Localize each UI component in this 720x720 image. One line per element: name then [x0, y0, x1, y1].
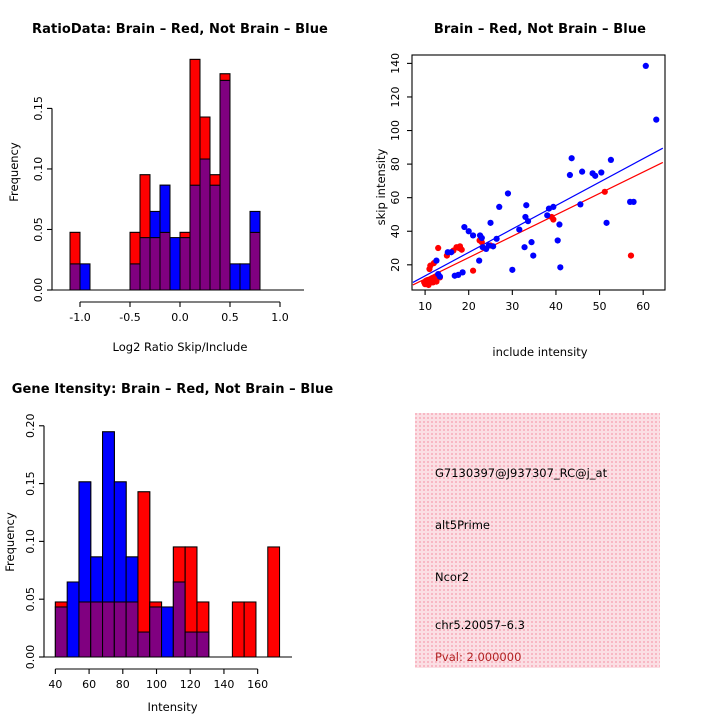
y-axis-tick-label: 0.00	[24, 645, 37, 670]
scatter-point-not-brain	[460, 269, 466, 275]
histogram-bar-overlap	[210, 185, 220, 290]
x-axis-tick-label: 50	[593, 300, 607, 313]
y-axis-tick-label: 60	[389, 191, 402, 205]
x-axis-tick-label: 120	[180, 678, 201, 691]
x-axis-tick-label: 100	[146, 678, 167, 691]
histogram-bar-overlap	[180, 238, 190, 290]
histogram-bar-not-brain	[67, 582, 79, 657]
y-axis-tick-label: 0.05	[24, 587, 37, 612]
scatter-plot: 20406080100120140102030405060	[360, 0, 720, 360]
y-axis-tick-label: 0.15	[24, 471, 37, 496]
regression-line	[413, 148, 663, 282]
scatter-point-not-brain	[487, 220, 493, 226]
x-axis-tick-label: 140	[213, 678, 234, 691]
histogram-bar-overlap	[200, 159, 210, 290]
y-axis-tick-label: 140	[389, 53, 402, 74]
scatter-point-not-brain	[525, 218, 531, 224]
scatter-point-not-brain	[521, 244, 527, 250]
panel-scatter: Brain – Red, Not Brain – Blue 2040608010…	[360, 0, 720, 360]
scatter-point-not-brain	[544, 212, 550, 218]
scatter-point-not-brain	[516, 226, 522, 232]
gene-histogram-plot: 0.000.050.100.150.20406080100120140160	[0, 360, 360, 720]
scatter-point-not-brain	[630, 199, 636, 205]
scatter-point-not-brain	[557, 264, 563, 270]
scatter-point-brain	[435, 245, 441, 251]
histogram-bar-overlap	[140, 238, 150, 290]
histogram-bar-top	[55, 602, 67, 607]
histogram-bar-overlap	[79, 602, 91, 657]
y-axis-tick-label: 0.10	[32, 157, 45, 182]
scatter-point-not-brain	[490, 243, 496, 249]
histogram-bar-overlap	[160, 232, 170, 290]
histogram-bar-top	[79, 482, 91, 602]
scatter-point-brain	[470, 268, 476, 274]
histogram-bar-top	[210, 175, 220, 185]
scatter-point-not-brain	[496, 204, 502, 210]
scatter-point-not-brain	[523, 202, 529, 208]
ratio-histogram-xlabel: Log2 Ratio Skip/Include	[0, 340, 360, 354]
scatter-point-not-brain	[494, 236, 500, 242]
histogram-bar-top	[126, 557, 138, 602]
scatter-point-not-brain	[577, 201, 583, 207]
histogram-bar-not-brain	[170, 238, 180, 290]
scatter-point-not-brain	[505, 190, 511, 196]
histogram-bar-top	[190, 59, 200, 185]
histogram-bar-overlap	[91, 602, 103, 657]
scatter-point-not-brain	[592, 173, 598, 179]
histogram-bar-overlap	[126, 602, 138, 657]
histogram-bar-top	[150, 602, 162, 607]
x-axis-tick-label: 60	[82, 678, 96, 691]
histogram-bar-overlap	[220, 80, 230, 290]
histogram-bar-not-brain	[240, 264, 250, 290]
y-axis-tick-label: 40	[389, 224, 402, 238]
x-axis-tick-label: 160	[247, 678, 268, 691]
histogram-bar-not-brain	[230, 264, 240, 290]
x-axis-tick-label: 0.0	[171, 311, 189, 324]
scatter-point-not-brain	[437, 273, 443, 279]
gene-symbol-text: Ncor2	[435, 570, 469, 584]
histogram-bar-top	[250, 211, 260, 232]
x-axis-tick-label: 60	[636, 300, 650, 313]
histogram-bar-top	[200, 117, 210, 159]
x-axis-tick-label: -0.5	[119, 311, 140, 324]
figure-canvas: RatioData: Brain – Red, Not Brain – Blue…	[0, 0, 720, 720]
histogram-bar-overlap	[70, 264, 80, 290]
scatter-point-not-brain	[479, 235, 485, 241]
scatter-point-not-brain	[653, 117, 659, 123]
histogram-bar-top	[197, 602, 209, 632]
histogram-bar-top	[70, 232, 80, 263]
histogram-bar-top	[160, 185, 170, 232]
histogram-bar-overlap	[103, 602, 115, 657]
histogram-bar-brain	[268, 547, 280, 657]
histogram-bar-brain	[232, 602, 244, 657]
scatter-point-not-brain	[569, 155, 575, 161]
x-axis-tick-label: 0.5	[221, 311, 239, 324]
scatter-ylabel: skip intensity	[374, 142, 388, 232]
histogram-bar-overlap	[250, 232, 260, 290]
locus-text: chr5.20057–6.3	[435, 618, 525, 632]
scatter-point-not-brain	[598, 169, 604, 175]
scatter-point-brain	[602, 189, 608, 195]
scatter-point-not-brain	[643, 63, 649, 69]
y-axis-tick-label: 120	[389, 86, 402, 107]
scatter-point-not-brain	[550, 204, 556, 210]
x-axis-tick-label: 80	[116, 678, 130, 691]
regression-line	[413, 162, 663, 285]
ratio-histogram-ylabel: Frequency	[7, 132, 21, 212]
histogram-bar-top	[173, 547, 185, 582]
histogram-bar-top	[220, 74, 230, 81]
histogram-bar-brain	[244, 602, 256, 657]
y-axis-tick-label: 0.05	[32, 217, 45, 242]
x-axis-tick-label: 40	[48, 678, 62, 691]
x-axis-tick-label: 40	[549, 300, 563, 313]
histogram-bar-top	[150, 211, 160, 237]
x-axis-tick-label: 30	[505, 300, 519, 313]
gene-info-box: G7130397@J937307_RC@j_at alt5Prime Ncor2…	[415, 413, 660, 668]
histogram-bar-overlap	[130, 264, 140, 290]
scatter-point-brain	[628, 252, 634, 258]
y-axis-tick-label: 100	[389, 120, 402, 141]
scatter-point-not-brain	[556, 221, 562, 227]
histogram-bar-overlap	[150, 238, 160, 290]
histogram-bar-top	[91, 557, 103, 602]
histogram-bar-top	[138, 492, 150, 632]
gene-histogram-ylabel: Frequency	[3, 502, 17, 582]
scatter-xlabel: include intensity	[360, 345, 720, 359]
histogram-bar-top	[130, 232, 140, 263]
panel-ratio-histogram: RatioData: Brain – Red, Not Brain – Blue…	[0, 0, 360, 360]
histogram-bar-overlap	[197, 632, 209, 657]
scatter-point-not-brain	[470, 232, 476, 238]
panel-gene-info: G7130397@J937307_RC@j_at alt5Prime Ncor2…	[360, 360, 720, 720]
scatter-point-not-brain	[528, 239, 534, 245]
histogram-bar-not-brain	[162, 607, 174, 657]
probe-id-text: G7130397@J937307_RC@j_at	[435, 466, 607, 480]
scatter-point-not-brain	[476, 258, 482, 264]
histogram-bar-not-brain	[80, 264, 90, 290]
scatter-point-brain	[550, 216, 556, 222]
plot-content	[413, 63, 663, 288]
scatter-point-not-brain	[603, 220, 609, 226]
x-axis-tick-label: 20	[462, 300, 476, 313]
histogram-bar-top	[114, 482, 126, 602]
panel-gene-histogram: Gene Itensity: Brain – Red, Not Brain – …	[0, 360, 360, 720]
histogram-bar-top	[185, 547, 197, 632]
scatter-point-not-brain	[555, 237, 561, 243]
scatter-point-brain	[459, 247, 465, 253]
scatter-point-not-brain	[509, 267, 515, 273]
scatter-point-not-brain	[448, 249, 454, 255]
histogram-bar-overlap	[138, 632, 150, 657]
x-axis-tick-label: 10	[418, 300, 432, 313]
histogram-bar-overlap	[173, 582, 185, 657]
ratio-histogram-plot: 0.000.050.100.15-1.0-0.50.00.51.0	[0, 0, 360, 360]
y-axis-tick-label: 20	[389, 258, 402, 272]
histogram-bar-overlap	[190, 185, 200, 290]
histogram-bar-overlap	[150, 607, 162, 657]
histogram-bar-overlap	[185, 632, 197, 657]
y-axis-tick-label: 0.10	[24, 529, 37, 554]
gene-histogram-xlabel: Intensity	[0, 700, 345, 714]
y-axis-tick-label: 80	[389, 157, 402, 171]
scatter-point-not-brain	[608, 157, 614, 163]
scatter-point-not-brain	[530, 252, 536, 258]
scatter-point-not-brain	[579, 169, 585, 175]
histogram-bar-top	[103, 432, 115, 602]
scatter-point-not-brain	[433, 258, 439, 264]
pval-text: Pval: 2.000000	[435, 650, 521, 664]
histogram-bar-overlap	[55, 607, 67, 657]
histogram-bar-top	[140, 175, 150, 238]
scatter-point-not-brain	[567, 172, 573, 178]
y-axis-tick-label: 0.20	[24, 414, 37, 439]
y-axis-tick-label: 0.00	[32, 278, 45, 303]
x-axis-tick-label: 1.0	[271, 311, 289, 324]
histogram-bar-overlap	[114, 602, 126, 657]
splice-type-text: alt5Prime	[435, 518, 490, 532]
histogram-bar-top	[180, 232, 190, 237]
x-axis-tick-label: -1.0	[69, 311, 90, 324]
y-axis-tick-label: 0.15	[32, 96, 45, 121]
